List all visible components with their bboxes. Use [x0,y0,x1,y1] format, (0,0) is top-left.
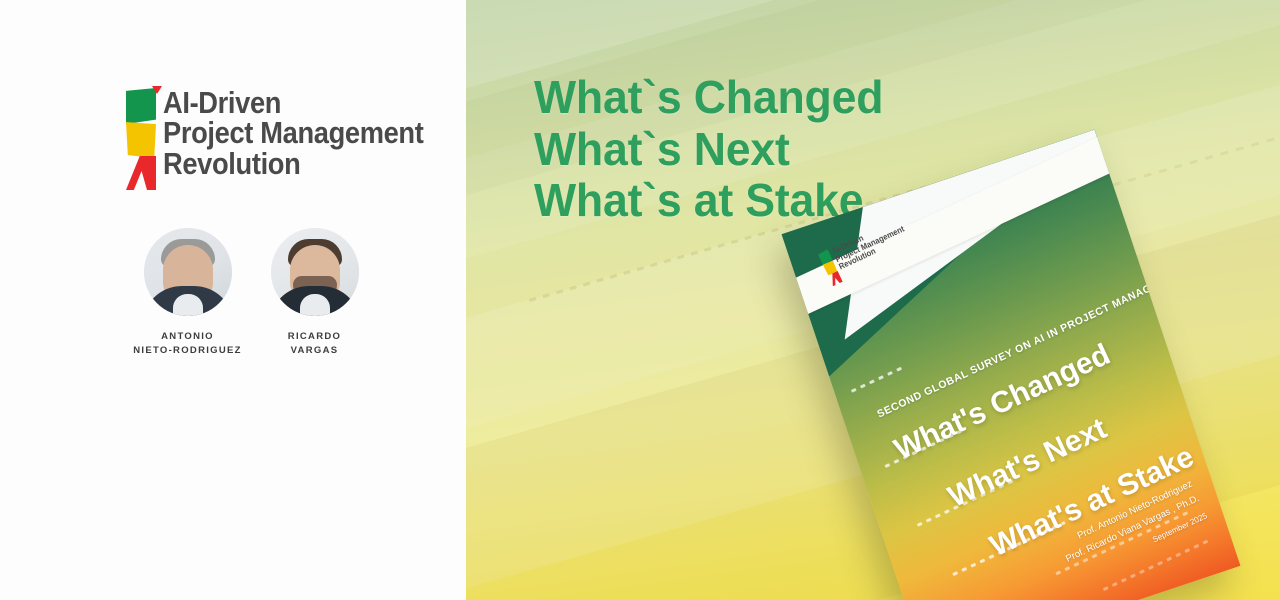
avatar-shirt [300,294,330,316]
headline: What`s Changed What`s Next What`s at Sta… [534,72,894,227]
authors-row: ANTONIO NIETO-RODRIGUEZ RICARDO VARGAS [140,228,362,358]
author-name-line-1: RICARDO [288,330,341,344]
brand-line-3: Revolution [163,149,423,179]
brand-mark-red-segment-icon [126,156,156,190]
brand-wordmark: AI-Driven Project Management Revolution [163,88,459,179]
avatar [144,228,232,316]
avatar-shirt [173,294,203,316]
author-name-line-2: VARGAS [288,344,341,358]
brand-lockup: AI-Driven Project Management Revolution [126,88,459,184]
left-panel: AI-Driven Project Management Revolution … [0,0,466,600]
headline-line-1: What`s Changed [534,72,883,124]
slide-canvas: AI-Driven Project Management Revolution … [0,0,1280,600]
author-antonio-nieto-rodriguez: ANTONIO NIETO-RODRIGUEZ [140,228,235,358]
brand-line-1: AI-Driven [163,88,423,118]
author-ricardo-vargas: RICARDO VARGAS [267,228,362,358]
brand-accent-tick-icon [152,86,162,94]
brand-line-2: Project Management [163,118,423,148]
author-name: RICARDO VARGAS [288,330,341,358]
brand-mark-yellow-segment-icon [126,122,156,158]
author-name: ANTONIO NIETO-RODRIGUEZ [133,330,242,358]
brand-mark-icon [126,88,156,184]
avatar [271,228,359,316]
author-name-line-1: ANTONIO [133,330,242,344]
headline-line-2: What`s Next [534,124,883,176]
author-name-line-2: NIETO-RODRIGUEZ [133,344,242,358]
